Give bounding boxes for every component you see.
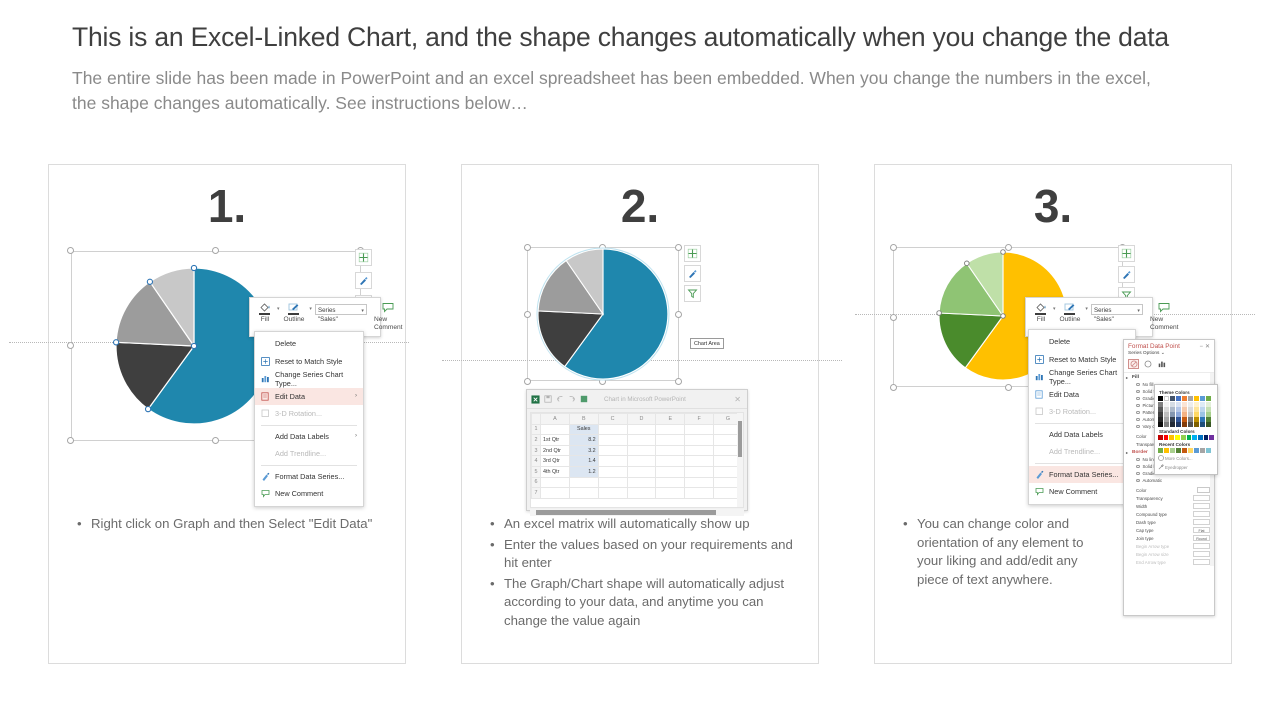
cell[interactable] [685, 456, 714, 467]
series-selector[interactable]: Series "Sales" ▾ [1091, 304, 1143, 315]
menu-item-reset-to-match-style[interactable]: Reset to Match Style [1029, 351, 1135, 369]
chart-elements-button[interactable] [355, 249, 372, 266]
cell[interactable] [685, 445, 714, 456]
cell[interactable] [656, 435, 685, 446]
cell[interactable] [598, 466, 627, 477]
card-step-1: 1. [48, 164, 406, 664]
point-handle[interactable] [114, 340, 119, 345]
submenu-arrow-icon: › [355, 393, 357, 399]
menu-item-label: Format Data Series... [1046, 470, 1129, 479]
tint-column [1170, 402, 1175, 427]
format-pane-tabs [1124, 358, 1214, 373]
cell[interactable] [656, 456, 685, 467]
menu-item-format-data-series[interactable]: Format Data Series... [1029, 466, 1135, 484]
outline-tool[interactable]: Outline [280, 301, 309, 325]
submenu-arrow-icon: › [355, 433, 357, 439]
context-menu-3[interactable]: Delete Reset to Match Style Change Serie… [1028, 329, 1136, 505]
excel-column-header-row: A B C D E F G [532, 414, 743, 425]
cell-B1[interactable]: Sales [569, 424, 598, 435]
series-options-tab[interactable] [1156, 359, 1167, 369]
menu-item-add-data-labels[interactable]: Add Data Labels › [1029, 426, 1135, 444]
fill-label: Fill [1037, 316, 1045, 324]
card-number-2: 2. [462, 179, 818, 233]
cell-A3[interactable]: 2nd Qtr [541, 445, 570, 456]
menu-item-new-comment[interactable]: New Comment [1029, 483, 1135, 501]
menu-item-3d-rotation: 3-D Rotation... [1029, 403, 1135, 421]
menu-item-label: Add Data Labels [1046, 430, 1127, 439]
recent-colors-label: Recent Colors [1159, 442, 1214, 447]
comment-icon [381, 302, 395, 315]
cell-A5[interactable]: 4th Qtr [541, 466, 570, 477]
col-header-C[interactable]: C [598, 414, 627, 425]
chart-area-tooltip: Chart Area [690, 338, 724, 349]
slide-root: This is an Excel-Linked Chart, and the s… [0, 0, 1280, 720]
excel-table[interactable]: A B C D E F G 1 Sales [531, 413, 743, 499]
color-swatch[interactable] [1170, 396, 1175, 401]
color-swatch[interactable] [1188, 448, 1193, 453]
cell-A4[interactable]: 3rd Qtr [541, 456, 570, 467]
new-comment-tool[interactable]: New Comment [370, 301, 407, 333]
menu-item-reset-to-match-style[interactable]: Reset to Match Style [255, 353, 363, 371]
rotation-icon [259, 409, 272, 418]
chart-elements-plus-icon [687, 248, 698, 259]
menu-item-label: Delete [1046, 337, 1129, 346]
excel-grid[interactable]: A B C D E F G 1 Sales [530, 412, 744, 508]
recent-colors-row [1158, 448, 1214, 453]
cell[interactable] [569, 488, 598, 499]
cell-A1[interactable] [541, 424, 570, 435]
col-header-E[interactable]: E [656, 414, 685, 425]
row-label: Width [1136, 504, 1193, 509]
cell[interactable] [656, 445, 685, 456]
menu-item-label: Add Trendline... [1046, 447, 1129, 456]
new-comment-label: New Comment [374, 316, 403, 332]
chart-filters-button[interactable] [684, 285, 701, 302]
menu-item-edit-data[interactable]: Edit Data › [1029, 386, 1135, 404]
menu-item-label: Reset to Match Style [1046, 355, 1129, 364]
menu-separator [261, 425, 357, 426]
effects-tab[interactable] [1142, 359, 1153, 369]
series-options-text: Series Options [1128, 351, 1159, 356]
corner-cell[interactable] [532, 414, 541, 425]
color-swatch[interactable] [1194, 396, 1199, 401]
new-comment-label: New Comment [1150, 316, 1179, 332]
more-colors-label: More Colors... [1165, 456, 1193, 461]
cell-B2[interactable]: 8.2 [569, 435, 598, 446]
rotation-icon [1033, 407, 1046, 416]
point-handle[interactable] [191, 343, 196, 348]
row-number[interactable]: 5 [532, 466, 541, 477]
table-row[interactable]: 4 3rd Qtr 1.4 [532, 456, 743, 467]
cell[interactable] [656, 424, 685, 435]
cell[interactable] [627, 424, 656, 435]
outline-label: Outline [1060, 316, 1081, 324]
comment-icon [259, 489, 272, 498]
menu-separator [1035, 463, 1129, 464]
reset-icon [259, 357, 272, 366]
color-swatch[interactable] [1170, 448, 1175, 453]
standard-colors-row [1158, 435, 1214, 440]
color-swatch[interactable] [1200, 448, 1205, 453]
bullet-text: An excel matrix will automatically show … [504, 515, 796, 534]
bullet-dot-icon: • [77, 515, 91, 534]
cell[interactable] [598, 488, 627, 499]
cell[interactable] [685, 466, 714, 477]
color-swatch[interactable] [1175, 435, 1180, 440]
row-number[interactable]: 7 [532, 488, 541, 499]
border-color-swatch[interactable] [1197, 487, 1210, 493]
figure-step-1: Fill ▾ Outline ▾ [49, 239, 405, 519]
outline-pen-icon [287, 302, 301, 315]
color-swatch[interactable] [1176, 448, 1181, 453]
tint-column [1194, 402, 1199, 427]
bullet-item: • An excel matrix will automatically sho… [490, 515, 796, 534]
menu-item-delete[interactable]: Delete [1029, 333, 1135, 351]
cell[interactable] [627, 477, 656, 488]
color-swatch[interactable] [1158, 448, 1163, 453]
border-transparency-row[interactable]: Transparency [1124, 494, 1214, 502]
row-number[interactable]: 1 [532, 424, 541, 435]
theme-colors-label: Theme Colors [1159, 390, 1214, 395]
color-swatch[interactable] [1198, 435, 1203, 440]
color-swatch[interactable] [1176, 396, 1181, 401]
cell[interactable] [627, 445, 656, 456]
menu-item-add-trendline: Add Trendline... [255, 445, 363, 463]
option-label: Automatic [1143, 478, 1211, 483]
color-swatch[interactable] [1164, 435, 1169, 440]
table-row[interactable]: 7 [532, 488, 743, 499]
point-handle[interactable] [191, 265, 196, 270]
cell[interactable] [598, 445, 627, 456]
series-options-label[interactable]: Series Options ⌄ [1124, 351, 1214, 358]
open-in-excel-icon[interactable] [580, 395, 588, 403]
undo-icon[interactable] [556, 395, 564, 403]
menu-item-label: Add Trendline... [272, 449, 357, 458]
series-options-icon [1158, 360, 1166, 368]
menu-separator [1035, 423, 1129, 424]
point-handle[interactable] [1001, 314, 1006, 319]
menu-item-change-series-chart-type[interactable]: Change Series Chart Type... [1029, 368, 1135, 386]
cell[interactable] [685, 488, 714, 499]
cell[interactable] [598, 435, 627, 446]
chart-elements-button[interactable] [684, 245, 701, 262]
theme-tints-grid [1158, 402, 1214, 427]
bullet-text: You can change color and orientation of … [917, 515, 1107, 589]
palette-icon [1158, 455, 1165, 462]
bullet-item: • You can change color and orientation o… [903, 515, 1209, 589]
tint-column [1158, 402, 1163, 427]
cell[interactable] [627, 435, 656, 446]
cell[interactable] [685, 435, 714, 446]
color-swatch[interactable] [1206, 448, 1211, 453]
card-number-3: 3. [875, 179, 1231, 233]
cell[interactable] [598, 424, 627, 435]
reset-icon [1033, 355, 1046, 364]
tint-column [1182, 402, 1187, 427]
cell[interactable] [541, 488, 570, 499]
save-icon[interactable] [544, 395, 552, 403]
chart-styles-button[interactable] [355, 272, 372, 289]
outline-caret-icon[interactable]: ▾ [309, 306, 312, 312]
cell[interactable] [627, 456, 656, 467]
color-swatch[interactable] [1169, 435, 1174, 440]
color-swatch[interactable] [1188, 396, 1193, 401]
border-option-automatic[interactable]: Automatic [1124, 477, 1214, 484]
color-swatch[interactable] [1158, 435, 1163, 440]
theme-base-row [1158, 396, 1214, 401]
bullet-dot-icon: • [490, 575, 504, 631]
context-menu-1[interactable]: Delete Reset to Match Style Change Serie… [254, 331, 364, 507]
chart-elements-plus-icon [358, 252, 369, 263]
fill-bucket-icon [1034, 302, 1048, 315]
col-header-B[interactable]: B [569, 414, 598, 425]
table-row[interactable]: 1 Sales [532, 424, 743, 435]
menu-item-label: Edit Data [272, 392, 355, 401]
tint-column [1188, 402, 1193, 427]
cell-B5[interactable]: 1.2 [569, 466, 598, 477]
cell[interactable] [541, 477, 570, 488]
menu-item-edit-data[interactable]: Edit Data › [255, 388, 363, 406]
eyedropper-option[interactable]: Eyedropper [1158, 464, 1214, 471]
outline-caret-icon[interactable]: ▾ [1085, 306, 1088, 312]
table-row[interactable]: 2 1st Qtr 8.2 [532, 435, 743, 446]
col-header-A[interactable]: A [541, 414, 570, 425]
chart-styles-button[interactable] [1118, 266, 1135, 283]
cards-container: 1. [48, 164, 1232, 664]
format-pane-header: Format Data Point − ✕ [1124, 340, 1214, 351]
figure-step-2: Chart Area [462, 239, 818, 519]
point-handle[interactable] [146, 407, 151, 412]
close-icon[interactable]: ✕ [1203, 343, 1210, 350]
color-swatch[interactable] [1206, 396, 1211, 401]
eyedropper-label: Eyedropper [1165, 465, 1188, 470]
bullet-dot-icon: • [490, 515, 504, 534]
excel-window-title: Chart in Microsoft PowerPoint [590, 396, 734, 403]
color-swatch[interactable] [1192, 435, 1197, 440]
tint-column [1176, 402, 1181, 427]
bullets-step-2: • An excel matrix will automatically sho… [490, 515, 796, 632]
cell[interactable] [656, 466, 685, 477]
color-swatch[interactable] [1181, 435, 1186, 440]
outline-pen-icon [1063, 302, 1077, 315]
color-swatch[interactable] [1164, 448, 1169, 453]
color-swatch[interactable] [1182, 396, 1187, 401]
fill-line-tab[interactable] [1128, 359, 1139, 369]
cell-B3[interactable]: 3.2 [569, 445, 598, 456]
menu-separator [261, 465, 357, 466]
menu-item-label: Delete [272, 339, 357, 348]
edit-data-icon [1033, 390, 1046, 399]
comment-icon [1157, 302, 1171, 315]
row-number[interactable]: 6 [532, 477, 541, 488]
menu-item-delete[interactable]: Delete [255, 335, 363, 353]
row-label: Color [1136, 488, 1197, 493]
menu-item-format-data-series[interactable]: Format Data Series... [255, 468, 363, 486]
spinner[interactable] [1193, 503, 1210, 509]
card-number-1: 1. [49, 179, 405, 233]
tint-column [1164, 402, 1169, 427]
format-icon [1033, 470, 1046, 479]
table-row[interactable]: 3 2nd Qtr 3.2 [532, 445, 743, 456]
chart-elements-button[interactable] [1118, 245, 1135, 262]
chart-elements-plus-icon [1121, 248, 1132, 259]
point-handle[interactable] [147, 279, 152, 284]
bullet-text: The Graph/Chart shape will automatically… [504, 575, 796, 631]
new-comment-tool[interactable]: New Comment [1146, 301, 1183, 333]
comment-icon [1033, 487, 1046, 496]
pie-chart-2[interactable] [462, 239, 820, 399]
chart-filters-funnel-icon [687, 288, 698, 299]
cell[interactable] [685, 477, 714, 488]
cell[interactable] [656, 477, 685, 488]
bullets-step-3: • You can change color and orientation o… [903, 515, 1209, 591]
row-label: Transparency [1136, 496, 1193, 501]
fill-tool[interactable]: Fill [1030, 301, 1052, 325]
bullet-text: Right click on Graph and then Select "Ed… [91, 515, 383, 534]
color-swatch[interactable] [1158, 396, 1163, 401]
chart-type-icon [1033, 372, 1046, 381]
excel-app-icon [531, 395, 540, 404]
col-header-D[interactable]: D [627, 414, 656, 425]
cell[interactable] [627, 466, 656, 477]
chart-styles-brush-icon [358, 275, 369, 286]
chart-type-icon [259, 374, 272, 383]
color-swatch[interactable] [1182, 448, 1187, 453]
bullet-text: Enter the values based on your requireme… [504, 536, 796, 573]
cell[interactable] [656, 488, 685, 499]
page-title: This is an Excel-Linked Chart, and the s… [72, 22, 1222, 53]
format-icon [259, 472, 272, 481]
tint-column [1206, 402, 1211, 427]
fill-line-icon [1130, 360, 1138, 368]
color-swatch[interactable] [1204, 435, 1209, 440]
menu-item-add-data-labels[interactable]: Add Data Labels › [255, 428, 363, 446]
redo-icon[interactable] [568, 395, 576, 403]
excel-vertical-scrollbar[interactable] [737, 413, 743, 507]
row-number[interactable]: 4 [532, 456, 541, 467]
effects-icon [1144, 360, 1152, 368]
color-picker-flyout[interactable]: Theme Colors [1154, 384, 1218, 475]
tint-column [1200, 402, 1205, 427]
table-row[interactable]: 5 4th Qtr 1.2 [532, 466, 743, 477]
fill-bucket-icon [258, 302, 272, 315]
card-step-3: 3. [874, 164, 1232, 664]
border-width-row[interactable]: Width [1124, 502, 1214, 510]
bullet-dot-icon: • [490, 536, 504, 573]
cell-A2[interactable]: 1st Qtr [541, 435, 570, 446]
outline-label: Outline [284, 316, 305, 324]
series-selector-value: Series "Sales" [1094, 307, 1114, 323]
menu-item-3d-rotation: 3-D Rotation... [255, 405, 363, 423]
spinner[interactable] [1193, 495, 1210, 501]
series-selector[interactable]: Series "Sales" ▾ [315, 304, 367, 315]
menu-item-label: 3-D Rotation... [272, 409, 357, 418]
close-icon[interactable]: ✕ [734, 395, 743, 404]
color-swatch[interactable] [1187, 435, 1192, 440]
bullets-step-1: • Right click on Graph and then Select "… [77, 515, 383, 536]
menu-item-label: Format Data Series... [272, 472, 357, 481]
color-swatch[interactable] [1164, 396, 1169, 401]
chart-styles-brush-icon [687, 268, 698, 279]
menu-item-label: Change Series Chart Type... [272, 370, 357, 388]
figure-step-3: Fill ▾ Outline ▾ [875, 239, 1231, 519]
fill-label: Fill [261, 316, 269, 324]
color-swatch[interactable] [1209, 435, 1214, 440]
bullet-item: • The Graph/Chart shape will automatical… [490, 575, 796, 631]
menu-item-label: 3-D Rotation... [1046, 407, 1129, 416]
color-swatch[interactable] [1194, 448, 1199, 453]
chart-styles-button[interactable] [684, 265, 701, 282]
col-header-F[interactable]: F [685, 414, 714, 425]
border-color-row[interactable]: Color [1124, 484, 1214, 494]
menu-item-label: New Comment [272, 489, 357, 498]
bullet-item: • Enter the values based on your require… [490, 536, 796, 573]
bullet-dot-icon: • [903, 515, 917, 589]
cell[interactable] [598, 456, 627, 467]
format-pane-title: Format Data Point [1128, 343, 1197, 350]
menu-item-label: Add Data Labels [272, 432, 355, 441]
row-number[interactable]: 2 [532, 435, 541, 446]
page-subtitle: The entire slide has been made in PowerP… [72, 66, 1157, 116]
card-step-2: 2. [461, 164, 819, 664]
cell[interactable] [685, 424, 714, 435]
menu-item-label: Change Series Chart Type... [1046, 368, 1129, 386]
chevron-down-icon: ▾ [1137, 307, 1140, 316]
series-selector-value: Series "Sales" [318, 307, 338, 323]
standard-colors-label: Standard Colors [1159, 429, 1214, 434]
edit-data-icon [259, 392, 272, 401]
excel-window[interactable]: Chart in Microsoft PowerPoint ✕ A B C D … [526, 389, 748, 511]
point-handle[interactable] [937, 311, 942, 316]
menu-item-add-trendline: Add Trendline... [1029, 443, 1135, 461]
bullet-item: • Right click on Graph and then Select "… [77, 515, 383, 534]
menu-item-label: Edit Data [1046, 390, 1127, 399]
cell[interactable] [598, 477, 627, 488]
eyedropper-icon [1158, 464, 1165, 471]
fill-section-header[interactable]: Fill [1124, 373, 1214, 381]
cell-B4[interactable]: 1.4 [569, 456, 598, 467]
chevron-down-icon: ▾ [361, 307, 364, 316]
chart-styles-brush-icon [1121, 269, 1132, 280]
cell[interactable] [569, 477, 598, 488]
menu-item-label: New Comment [1046, 487, 1129, 496]
more-colors-option[interactable]: More Colors... [1158, 455, 1214, 462]
color-swatch[interactable] [1200, 396, 1205, 401]
menu-item-label: Reset to Match Style [272, 357, 357, 366]
point-handle[interactable] [965, 261, 970, 266]
table-row[interactable]: 6 [532, 477, 743, 488]
menu-item-new-comment[interactable]: New Comment [255, 485, 363, 503]
cell[interactable] [627, 488, 656, 499]
excel-title-bar: Chart in Microsoft PowerPoint ✕ [527, 390, 747, 409]
outline-tool[interactable]: Outline [1056, 301, 1085, 325]
row-number[interactable]: 3 [532, 445, 541, 456]
fill-tool[interactable]: Fill [254, 301, 276, 325]
menu-item-change-series-chart-type[interactable]: Change Series Chart Type... [255, 370, 363, 388]
point-handle[interactable] [1001, 250, 1006, 255]
